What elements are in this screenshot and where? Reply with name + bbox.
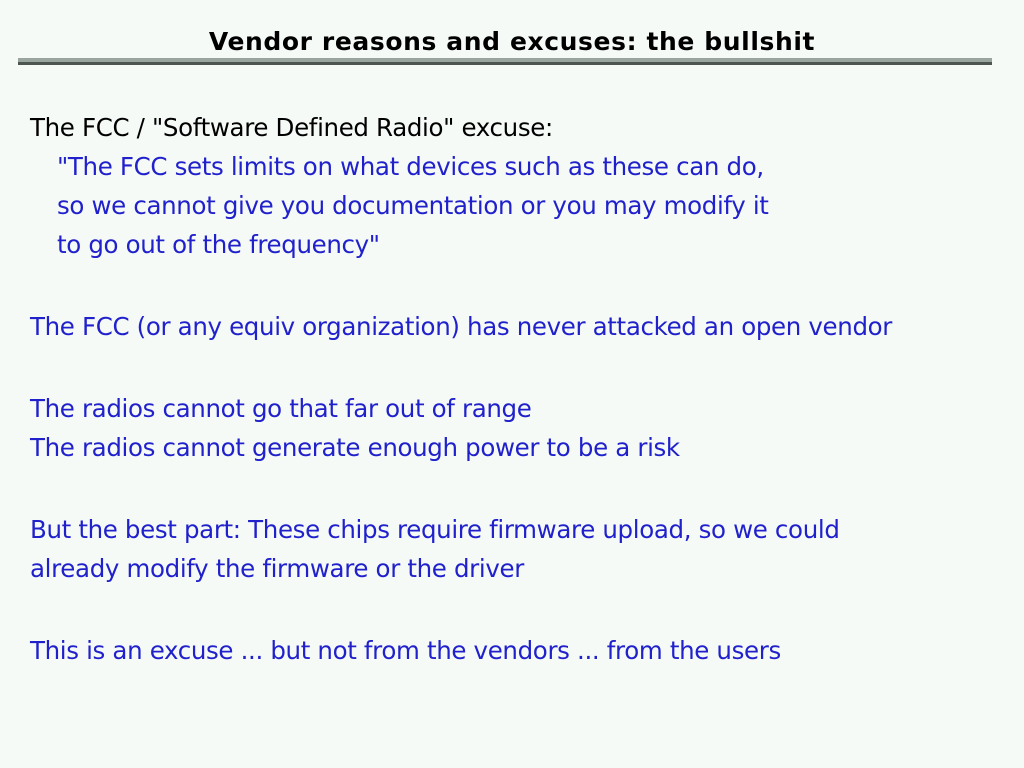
text-line: The radios cannot generate enough power … (30, 428, 1000, 467)
block-spacer (30, 346, 1000, 389)
text-line: This is an excuse ... but not from the v… (30, 631, 1000, 670)
page-title: Vendor reasons and excuses: the bullshit (0, 27, 1024, 57)
text-line: The FCC / "Software Defined Radio" excus… (30, 108, 1000, 147)
block-spacer (30, 467, 1000, 510)
text-block-fcc-sdr-excuse: The FCC / "Software Defined Radio" excus… (30, 108, 1000, 264)
text-line: The radios cannot go that far out of ran… (30, 389, 1000, 428)
text-block-firmware-upload: But the best part: These chips require f… (30, 510, 1000, 588)
text-line: But the best part: These chips require f… (30, 510, 1000, 549)
title-divider-rule (18, 58, 992, 65)
text-block-never-attacked: The FCC (or any equiv organization) has … (30, 307, 1000, 346)
slide-body: The FCC / "Software Defined Radio" excus… (30, 108, 1000, 670)
block-spacer (30, 264, 1000, 307)
text-line: so we cannot give you documentation or y… (30, 186, 1000, 225)
text-block-closing-remark: This is an excuse ... but not from the v… (30, 631, 1000, 670)
divider-shadow-band (18, 62, 992, 65)
text-line: to go out of the frequency" (30, 225, 1000, 264)
text-block-radio-limits: The radios cannot go that far out of ran… (30, 389, 1000, 467)
text-line: already modify the firmware or the drive… (30, 549, 1000, 588)
text-line: The FCC (or any equiv organization) has … (30, 307, 1000, 346)
text-line: "The FCC sets limits on what devices suc… (30, 147, 1000, 186)
block-spacer (30, 588, 1000, 631)
presentation-slide: Vendor reasons and excuses: the bullshit… (0, 0, 1024, 768)
